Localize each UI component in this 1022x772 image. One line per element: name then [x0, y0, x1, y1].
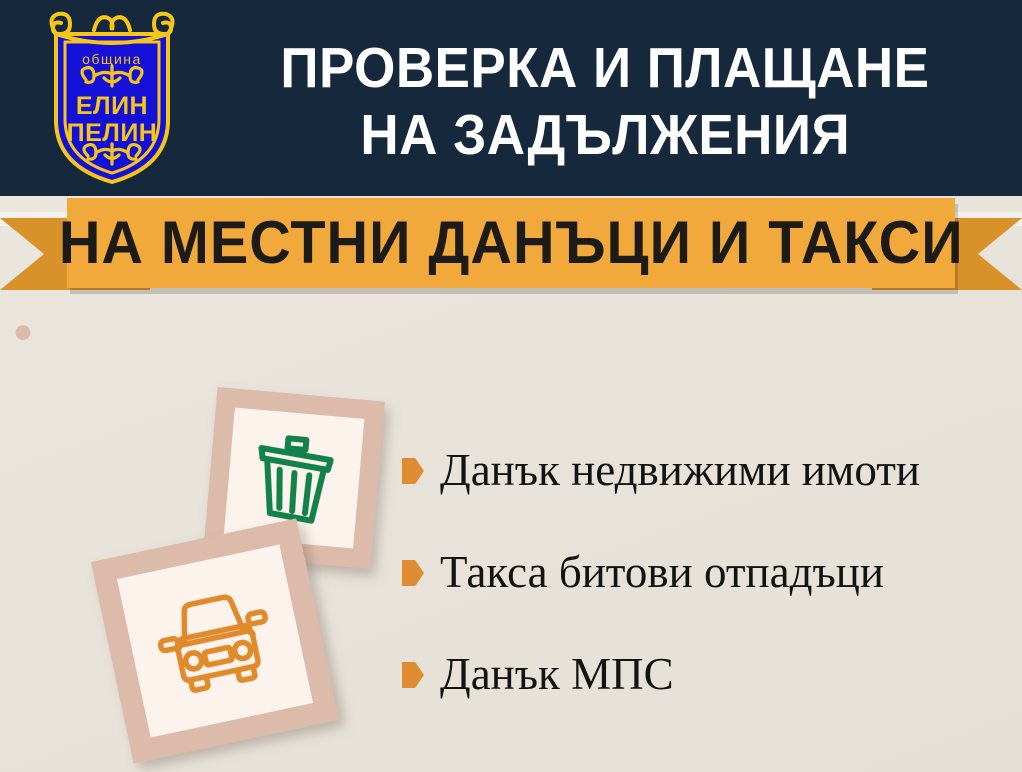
list-item[interactable]: Такса битови отпадъци: [402, 522, 1012, 624]
page-title: ПРОВЕРКА И ПЛАЩАНЕ НА ЗАДЪЛЖЕНИЯ: [190, 22, 1020, 182]
arrow-bullet-icon: [402, 662, 424, 688]
poster-canvas: община ЕЛИН ПЕЛИН ПРОВЕРКА И П: [0, 0, 1022, 772]
subtitle-ribbon: НА МЕСТНИ ДАНЪЦИ И ТАКСИ: [0, 196, 1022, 308]
list-item[interactable]: Данък МПС: [402, 624, 1012, 726]
ribbon-label: НА МЕСТНИ ДАНЪЦИ И ТАКСИ: [59, 213, 964, 273]
services-list: Данък недвижими имоти Такса битови отпад…: [402, 420, 1012, 726]
svg-text:ЕЛИН: ЕЛИН: [76, 92, 148, 120]
list-item-label: Данък недвижими имоти: [440, 446, 920, 496]
page-title-line-1: ПРОВЕРКА И ПЛАЩАНЕ: [280, 35, 929, 102]
car-icon: [91, 518, 339, 763]
vehicle-tax-stamp: [91, 518, 339, 763]
arrow-bullet-icon: [402, 458, 424, 484]
ribbon-face: НА МЕСТНИ ДАНЪЦИ И ТАКСИ: [67, 198, 955, 288]
list-item-label: Такса битови отпадъци: [440, 548, 884, 598]
elin-pelin-coat-of-arms-logo: община ЕЛИН ПЕЛИН: [38, 8, 186, 186]
list-item-label: Данък МПС: [440, 650, 674, 700]
page-title-line-2: НА ЗАДЪЛЖЕНИЯ: [360, 102, 850, 169]
list-item[interactable]: Данък недвижими имоти: [402, 420, 1012, 522]
arrow-bullet-icon: [402, 560, 424, 586]
